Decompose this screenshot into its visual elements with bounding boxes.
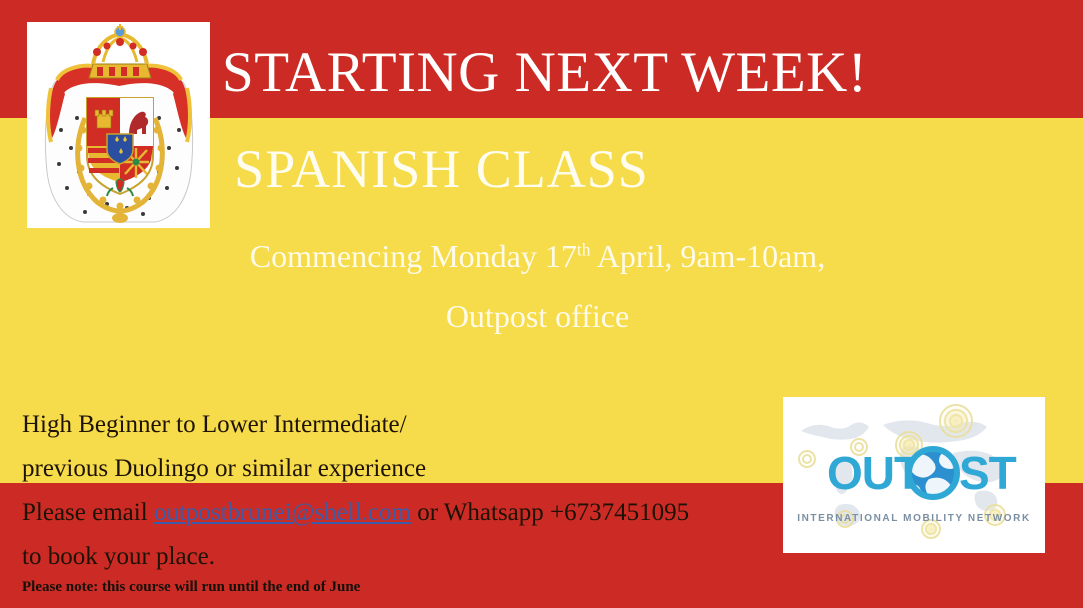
email-link[interactable]: outpostbrunei@shell.com	[154, 499, 411, 526]
class-schedule-line: Commencing Monday 17th April, 9am-10am,	[0, 240, 1083, 272]
contact-whatsapp-text: or Whatsapp +6737451095	[411, 499, 689, 526]
body-booking-line: to book your place.	[22, 535, 762, 579]
schedule-date-ordinal: th	[577, 239, 591, 259]
schedule-date-prefix: Commencing Monday 17	[250, 238, 577, 274]
flyer-headline: STARTING NEXT WEEK!	[222, 44, 922, 101]
course-duration-note: Please note: this course will run until …	[22, 578, 360, 596]
flyer-body-copy: High Beginner to Lower Intermediate/ pre…	[22, 403, 762, 579]
spanish-coat-of-arms-image	[27, 22, 210, 228]
contact-prefix-text: Please email	[22, 499, 154, 526]
logo-wordmark-part2: ST	[959, 447, 1017, 499]
spanish-class-flyer: STARTING NEXT WEEK! SPANISH CLASS Commen…	[0, 0, 1083, 608]
schedule-time-suffix: April, 9am-10am,	[591, 238, 826, 274]
outpost-logo-card: OUTP ST INTERNATIONAL MOBILITY NETWORK	[783, 397, 1045, 553]
body-level-line-2: previous Duolingo or similar experience	[22, 447, 762, 491]
flyer-subheadline: SPANISH CLASS	[0, 142, 1083, 196]
logo-tagline: INTERNATIONAL MOBILITY NETWORK	[797, 513, 1031, 524]
class-location-line: Outpost office	[0, 300, 1083, 332]
body-contact-line: Please email outpostbrunei@shell.com or …	[22, 491, 762, 535]
body-level-line-1: High Beginner to Lower Intermediate/	[22, 403, 762, 447]
